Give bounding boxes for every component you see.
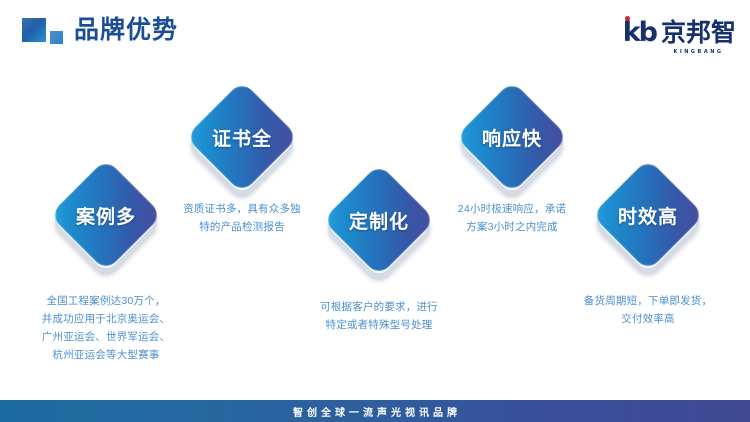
diamond-label-1: 案例多: [66, 175, 146, 255]
advantage-caption-5: 备货周期短，下单即发货， 交付效率高: [562, 292, 734, 328]
diamond-label-3: 定制化: [339, 180, 419, 260]
advantage-caption-2: 资质证书多，具有众多独 特的产品检测报告: [156, 200, 328, 236]
advantage-caption-4: 24小时极速响应，承诺 方案3小时之内完成: [426, 200, 598, 236]
diamond-shape-5[interactable]: 时效高: [591, 158, 704, 271]
advantage-caption-1: 全国工程案例达30万个， 并成功应用于北京奥运会、 广州亚运会、世界军运会、 杭…: [20, 292, 192, 364]
footer-slogan: 智创全球一流声光视讯品牌: [289, 404, 461, 419]
diamond-label-2: 证书全: [202, 97, 282, 177]
advantages-board: 案例多 全国工程案例达30万个， 并成功应用于北京奥运会、 广州亚运会、世界军运…: [0, 0, 750, 422]
diamond-shape-2[interactable]: 证书全: [185, 80, 298, 193]
advantage-caption-3: 可根据客户的要求，进行 特定或者特殊型号处理: [293, 298, 465, 334]
diamond-shape-4[interactable]: 响应快: [455, 80, 568, 193]
diamond-label-4: 响应快: [472, 97, 552, 177]
diamond-label-5: 时效高: [608, 175, 688, 255]
diamond-shape-3[interactable]: 定制化: [322, 163, 435, 276]
slide-footer: 智创全球一流声光视讯品牌: [0, 400, 750, 422]
diamond-shape-1[interactable]: 案例多: [49, 158, 162, 271]
